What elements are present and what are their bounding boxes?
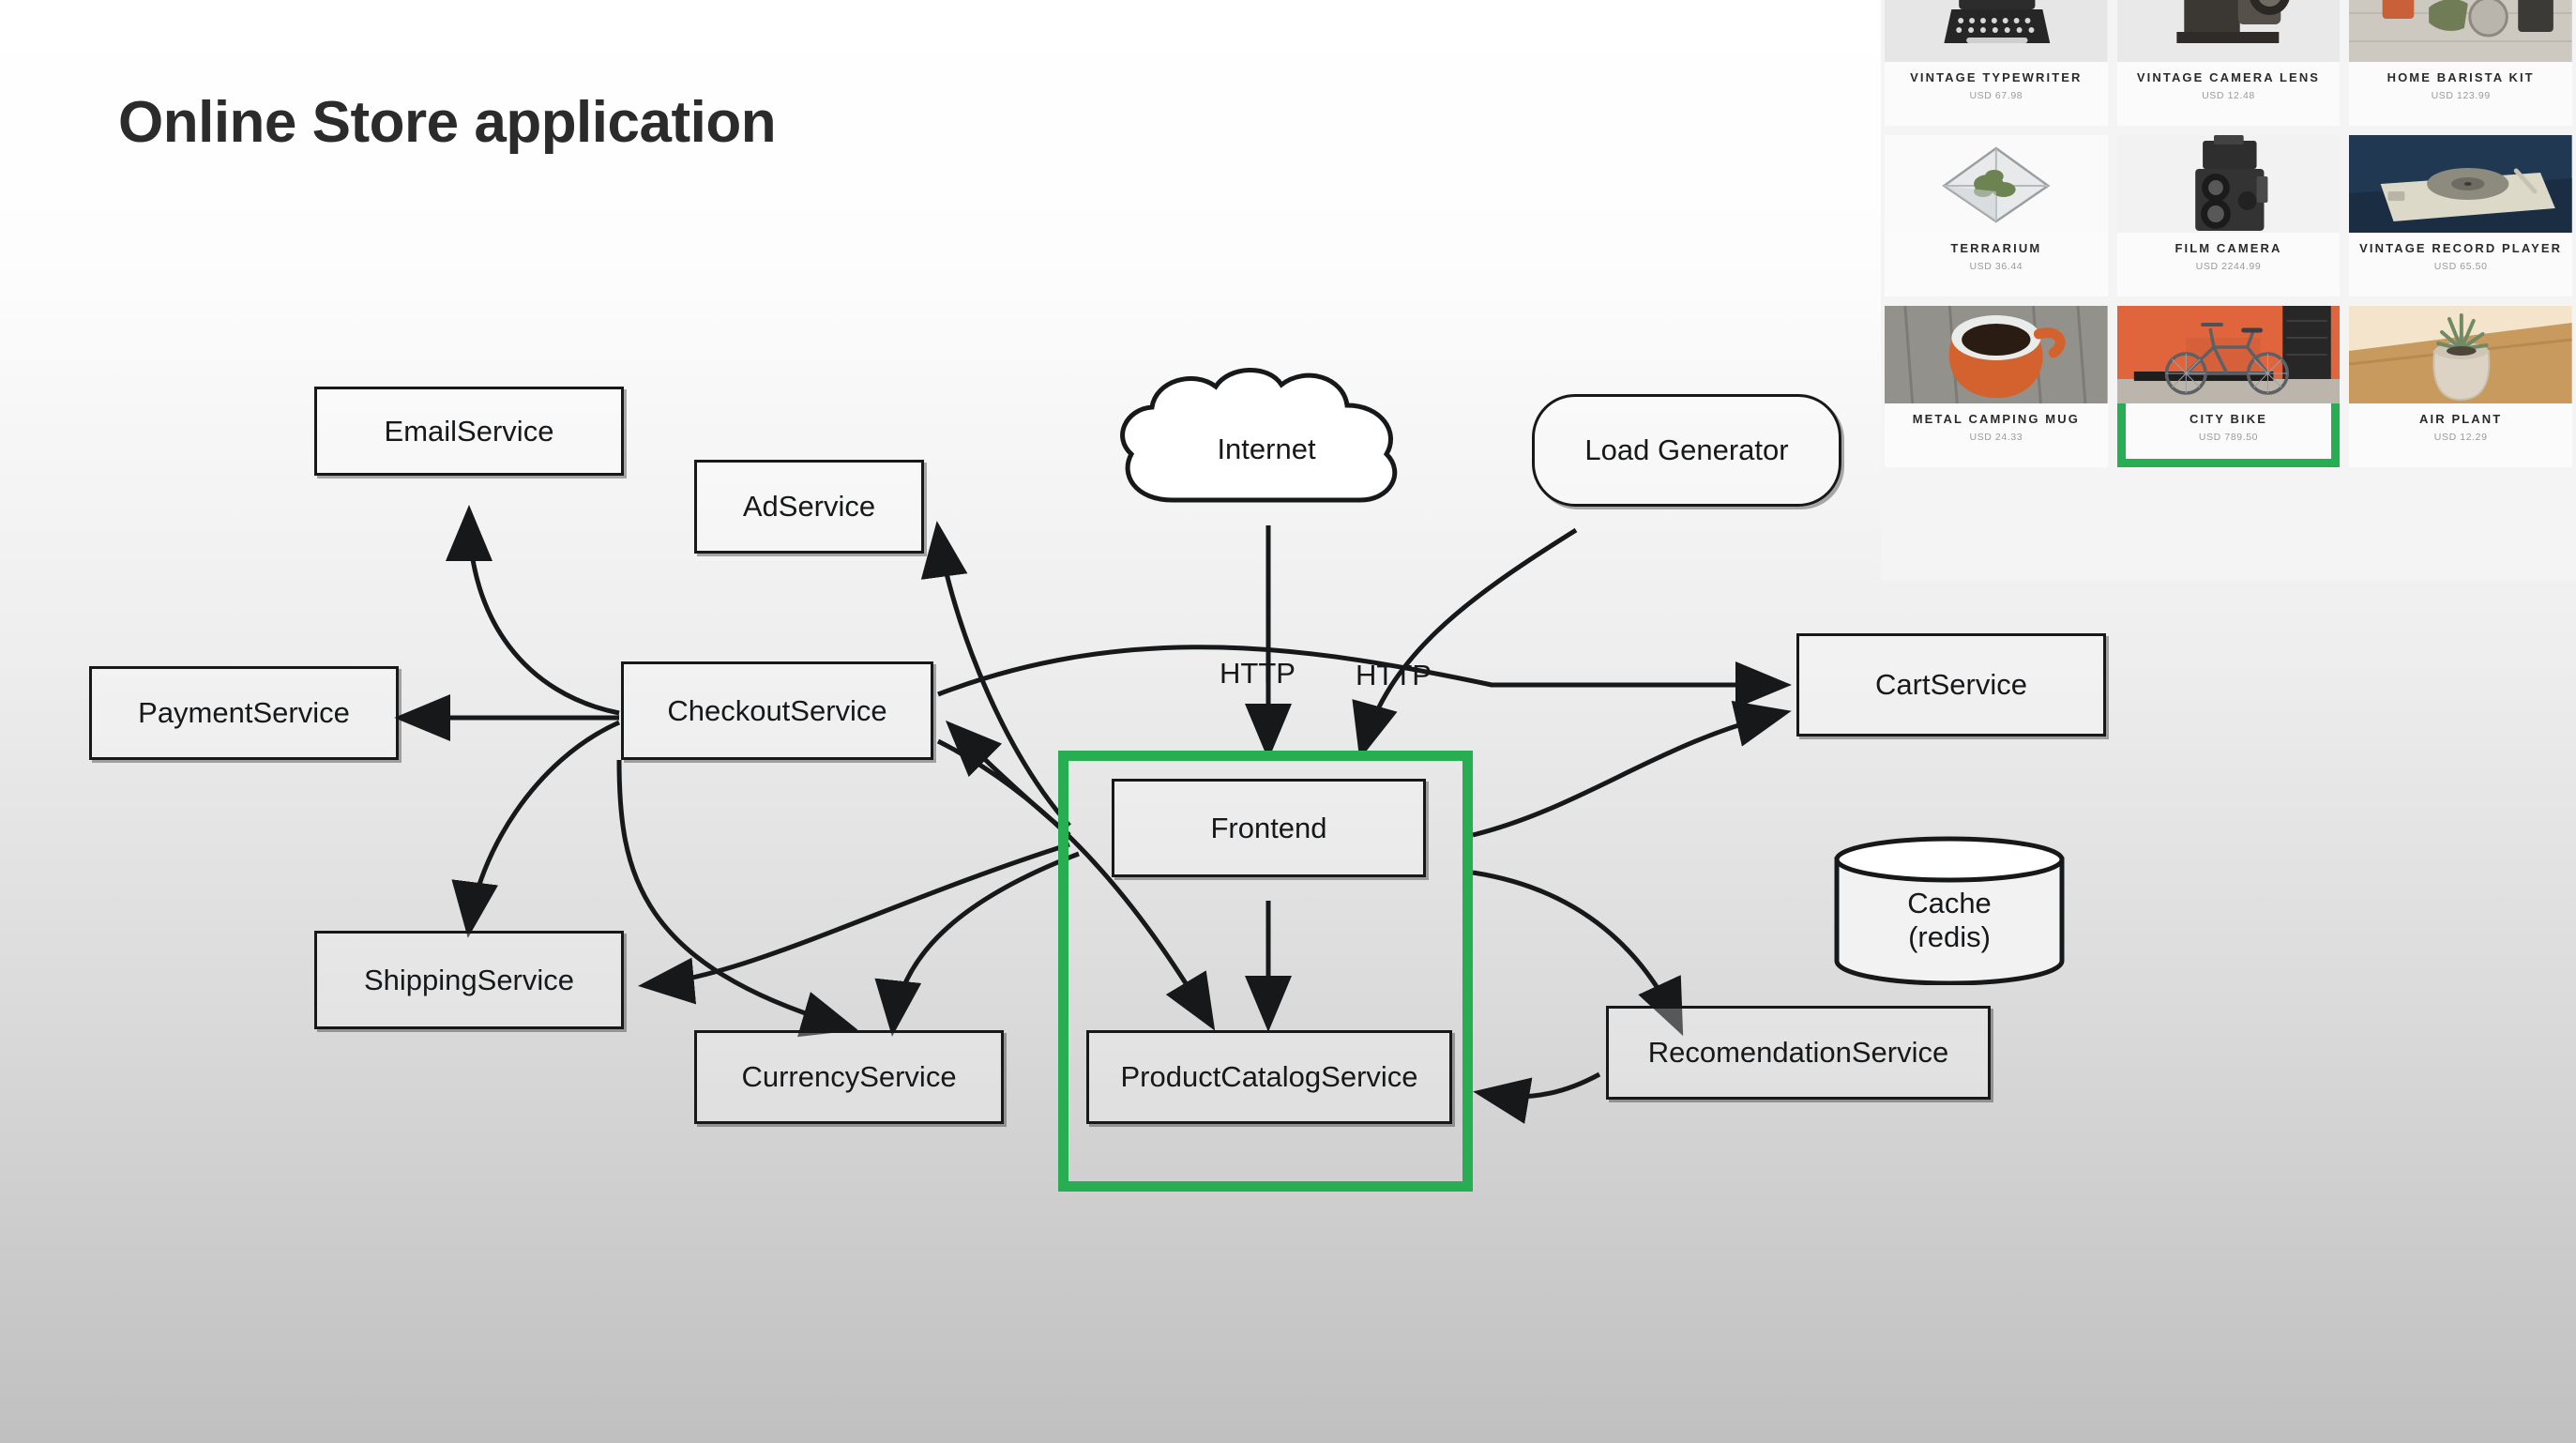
product-thumbnail: [1885, 0, 2108, 62]
product-meta: VINTAGE CAMERA LENS USD 12.48: [2117, 62, 2341, 126]
camera-lens-photo: [2117, 0, 2341, 62]
node-label: PaymentService: [138, 696, 350, 730]
node-label: ShippingService: [364, 964, 574, 997]
product-meta: CITY BIKE USD 789.50: [2117, 403, 2341, 467]
product-name: VINTAGE TYPEWRITER: [1904, 70, 2087, 86]
product-card[interactable]: FILM CAMERA USD 2244.99: [2117, 135, 2341, 296]
product-card-selected[interactable]: CITY BIKE USD 789.50: [2117, 306, 2341, 467]
node-label: RecomendationService: [1648, 1036, 1949, 1070]
node-label: EmailService: [385, 415, 554, 448]
node-label: CheckoutService: [667, 694, 886, 728]
product-meta: VINTAGE RECORD PLAYER USD 65.50: [2349, 233, 2572, 296]
node-paymentservice[interactable]: PaymentService: [89, 666, 399, 760]
product-card[interactable]: HOME BARISTA KIT USD 123.99: [2349, 0, 2572, 126]
product-thumbnail: [1885, 135, 2108, 233]
product-meta: FILM CAMERA USD 2244.99: [2117, 233, 2341, 296]
product-meta: TERRARIUM USD 36.44: [1885, 233, 2108, 296]
product-meta: AIR PLANT USD 12.29: [2349, 403, 2572, 467]
terrarium-photo: [1885, 135, 2108, 233]
node-label: Internet: [1217, 433, 1315, 466]
product-card[interactable]: VINTAGE RECORD PLAYER USD 65.50: [2349, 135, 2572, 296]
product-thumbnail: [2117, 0, 2341, 62]
product-meta: VINTAGE TYPEWRITER USD 67.98: [1885, 62, 2108, 126]
product-price: USD 12.29: [2434, 432, 2488, 443]
node-internet[interactable]: Internet: [1107, 364, 1426, 535]
product-price: USD 24.33: [1969, 432, 2023, 443]
product-name: VINTAGE CAMERA LENS: [2131, 70, 2326, 86]
node-label: CurrencyService: [741, 1060, 956, 1094]
node-shippingservice[interactable]: ShippingService: [314, 931, 624, 1029]
product-grid: VINTAGE TYPEWRITER USD 67.98 VINTA: [1881, 0, 2576, 580]
edge-label-http-internet: HTTP: [1220, 657, 1296, 691]
product-price: USD 123.99: [2432, 90, 2491, 101]
product-meta: METAL CAMPING MUG USD 24.33: [1885, 403, 2108, 467]
node-label-line2: (redis): [1908, 920, 1991, 954]
edge-label-http-loadgen: HTTP: [1356, 659, 1432, 692]
product-thumbnail: [1885, 306, 2108, 403]
product-thumbnail: [2349, 135, 2572, 233]
product-card[interactable]: VINTAGE TYPEWRITER USD 67.98: [1885, 0, 2108, 126]
node-cartservice[interactable]: CartService: [1796, 633, 2106, 737]
node-label-line1: Cache: [1907, 887, 1992, 920]
node-recomendationservice[interactable]: RecomendationService: [1606, 1006, 1991, 1100]
highlight-box-frontend-productcatalog: [1058, 751, 1473, 1192]
node-label: CartService: [1875, 668, 2027, 702]
product-name: AIR PLANT: [2414, 412, 2508, 428]
product-card[interactable]: AIR PLANT USD 12.29: [2349, 306, 2572, 467]
barista-kit-photo: [2349, 0, 2572, 62]
typewriter-photo: [1885, 0, 2108, 62]
product-name: CITY BIKE: [2184, 412, 2273, 428]
node-cache[interactable]: Cache (redis): [1832, 835, 2067, 985]
product-price: USD 67.98: [1969, 90, 2023, 101]
product-price: USD 789.50: [2199, 432, 2258, 443]
product-price: USD 2244.99: [2196, 261, 2262, 272]
film-camera-photo: [2117, 135, 2341, 233]
camping-mug-photo: [1885, 306, 2108, 403]
node-emailservice[interactable]: EmailService: [314, 387, 624, 476]
product-name: METAL CAMPING MUG: [1907, 412, 2085, 428]
product-thumbnail: [2117, 135, 2341, 233]
air-plant-photo: [2349, 306, 2572, 403]
product-meta: HOME BARISTA KIT USD 123.99: [2349, 62, 2572, 126]
product-name: HOME BARISTA KIT: [2382, 70, 2540, 86]
product-name: VINTAGE RECORD PLAYER: [2354, 241, 2568, 257]
product-card[interactable]: VINTAGE CAMERA LENS USD 12.48: [2117, 0, 2341, 126]
product-card[interactable]: TERRARIUM USD 36.44: [1885, 135, 2108, 296]
screenshot-root: Online Store application: [0, 0, 2576, 1443]
node-label: AdService: [743, 490, 875, 524]
product-thumbnail: [2349, 306, 2572, 403]
node-adservice[interactable]: AdService: [694, 460, 924, 554]
product-price: USD 36.44: [1969, 261, 2023, 272]
record-player-photo: [2349, 135, 2572, 233]
node-label: Load Generator: [1584, 433, 1788, 467]
architecture-diagram: EmailService AdService Internet Load Gen…: [0, 0, 1876, 1314]
product-thumbnail: [2349, 0, 2572, 62]
node-checkoutservice[interactable]: CheckoutService: [621, 661, 933, 760]
product-name: FILM CAMERA: [2169, 241, 2287, 257]
node-currencyservice[interactable]: CurrencyService: [694, 1030, 1004, 1124]
product-card[interactable]: METAL CAMPING MUG USD 24.33: [1885, 306, 2108, 467]
product-thumbnail: [2117, 306, 2341, 403]
node-loadgenerator[interactable]: Load Generator: [1532, 394, 1841, 507]
product-price: USD 12.48: [2202, 90, 2255, 101]
product-price: USD 65.50: [2434, 261, 2488, 272]
city-bike-photo: [2117, 306, 2341, 403]
product-name: TERRARIUM: [1945, 241, 2047, 257]
